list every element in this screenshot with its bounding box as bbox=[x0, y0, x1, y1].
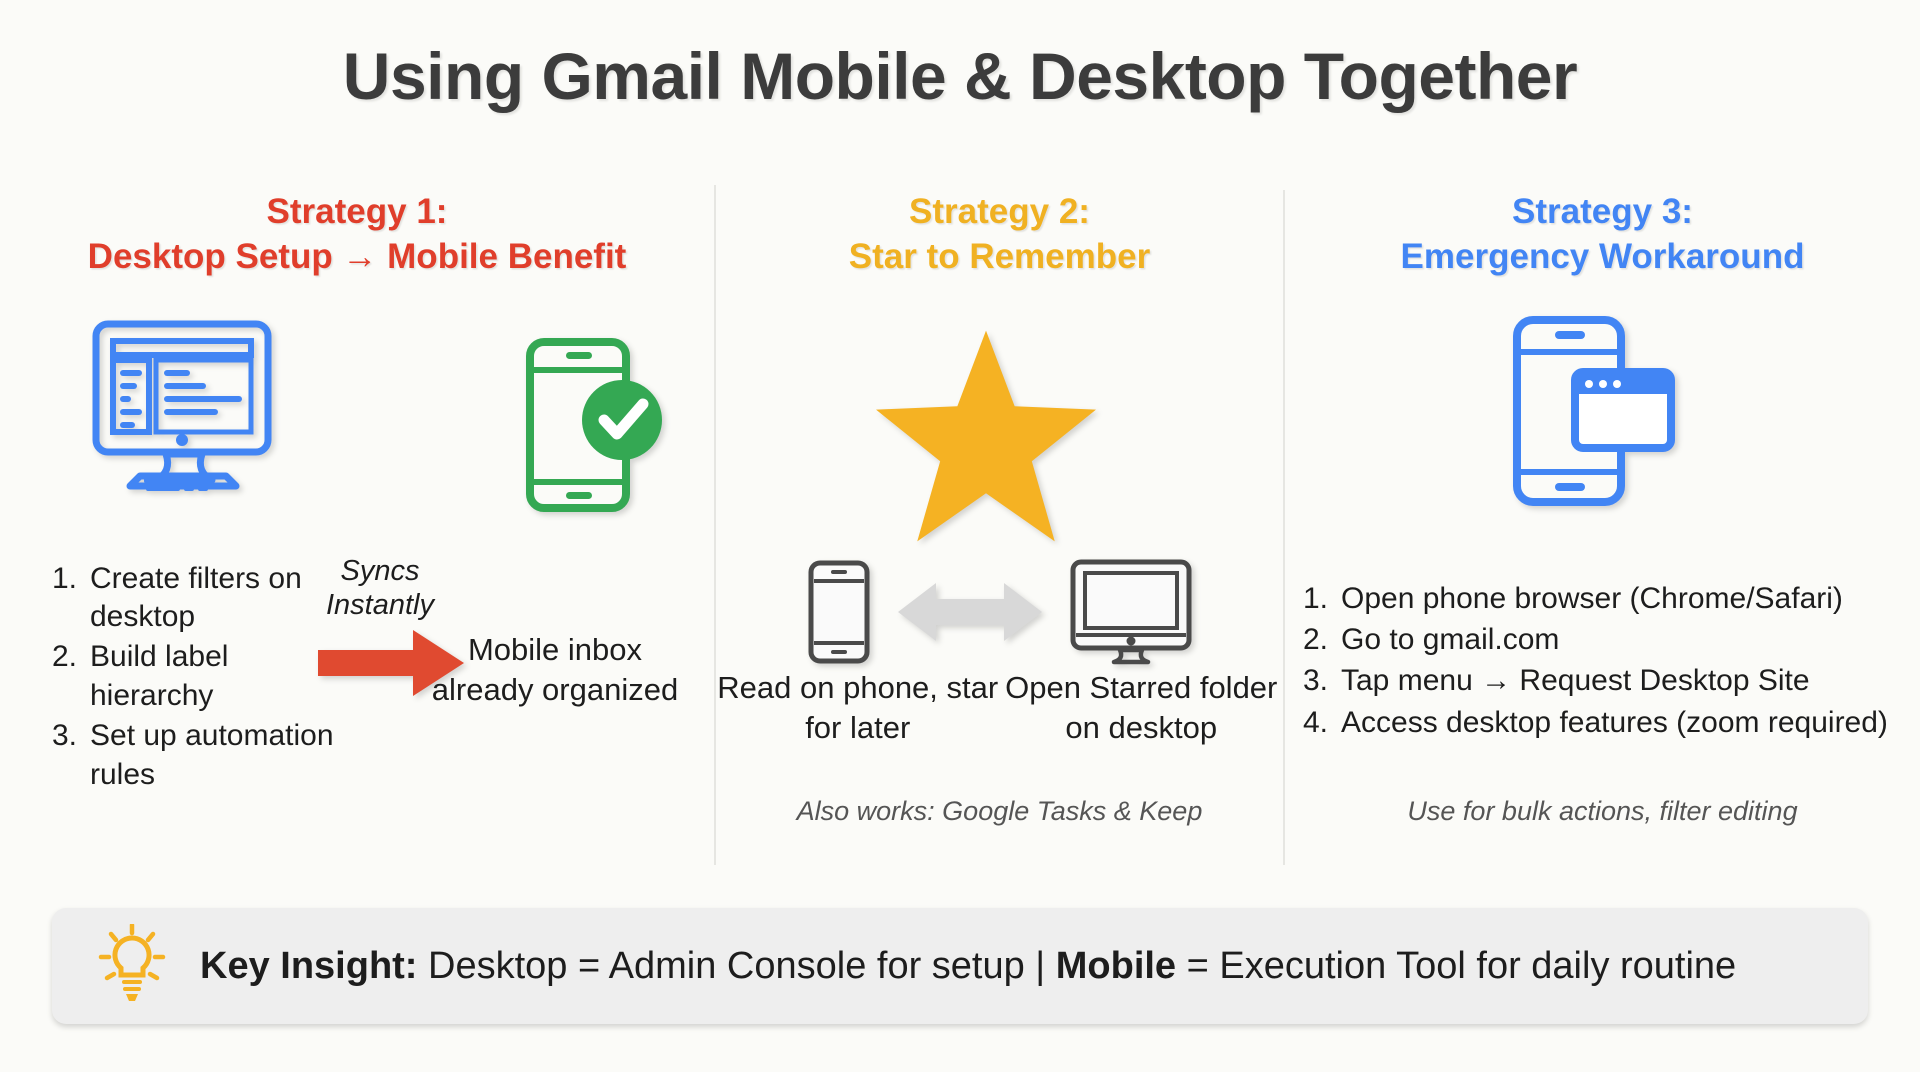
list-item: 3. Tap menu → Request Desktop Site bbox=[1303, 662, 1913, 700]
list-item: 3. Set up automation rules bbox=[52, 717, 342, 794]
desktop-monitor-icon bbox=[88, 318, 278, 503]
key-insight-part2: = Execution Tool for daily routine bbox=[1176, 945, 1736, 987]
strategy-3-heading-line2: Emergency Workaround bbox=[1285, 235, 1920, 280]
gold-star-icon bbox=[871, 326, 1101, 551]
list-item: 4. Access desktop features (zoom require… bbox=[1303, 704, 1913, 742]
phone-browser-window-icon bbox=[1503, 314, 1683, 519]
caption-desktop: Open Starred folder on desktop bbox=[1000, 668, 1284, 749]
strategy-3-step-list: 1. Open phone browser (Chrome/Safari) 2.… bbox=[1303, 580, 1913, 746]
strategy-2-heading: Strategy 2: Star to Remember bbox=[716, 190, 1283, 280]
step-text: Tap menu → Request Desktop Site bbox=[1341, 662, 1913, 700]
step-number: 4. bbox=[1303, 704, 1341, 742]
step-text: Set up automation rules bbox=[90, 717, 342, 794]
step-number: 1. bbox=[1303, 580, 1341, 618]
key-insight-banner: Key Insight: Desktop = Admin Console for… bbox=[52, 908, 1868, 1024]
strategy-1-heading-line2: Desktop Setup → Mobile Benefit bbox=[0, 235, 714, 280]
page-title: Using Gmail Mobile & Desktop Together bbox=[0, 38, 1920, 114]
step-number: 3. bbox=[52, 717, 90, 794]
strategy-2-heading-line1: Strategy 2: bbox=[909, 192, 1090, 231]
infographic-canvas: Using Gmail Mobile & Desktop Together St… bbox=[0, 0, 1920, 1072]
gray-phone-icon bbox=[806, 559, 872, 670]
sync-label: Syncs Instantly bbox=[300, 554, 460, 624]
strategy-2-body: Read on phone, star for later Open Starr… bbox=[716, 308, 1283, 868]
strategy-3-note: Use for bulk actions, filter editing bbox=[1285, 796, 1920, 827]
strategy-1-body: 1. Create filters on desktop 2. Build la… bbox=[0, 308, 714, 868]
key-insight-part1: Desktop = Admin Console for setup | bbox=[417, 945, 1055, 987]
strategy-2-heading-line2: Star to Remember bbox=[716, 235, 1283, 280]
strategy-3-heading-line1: Strategy 3: bbox=[1512, 192, 1693, 231]
strategy-2-captions: Read on phone, star for later Open Starr… bbox=[716, 668, 1283, 749]
list-item: 1. Create filters on desktop bbox=[52, 560, 342, 637]
step-text: Access desktop features (zoom required) bbox=[1341, 704, 1913, 742]
step-text: Go to gmail.com bbox=[1341, 621, 1913, 659]
lightbulb-icon bbox=[98, 924, 166, 1009]
step-text: Build label hierarchy bbox=[90, 638, 342, 715]
strategy-1-step-list: 1. Create filters on desktop 2. Build la… bbox=[52, 560, 342, 796]
key-insight-label: Key Insight: bbox=[200, 945, 417, 987]
strategy-1-heading: Strategy 1: Desktop Setup → Mobile Benef… bbox=[0, 190, 714, 280]
bidirectional-arrow-icon bbox=[896, 577, 1044, 652]
list-item: 1. Open phone browser (Chrome/Safari) bbox=[1303, 580, 1913, 618]
step-number: 2. bbox=[52, 638, 90, 715]
strategy-2-note: Also works: Google Tasks & Keep bbox=[716, 796, 1283, 827]
caption-phone: Read on phone, star for later bbox=[716, 668, 1000, 749]
step-number: 1. bbox=[52, 560, 90, 637]
step-number: 2. bbox=[1303, 621, 1341, 659]
green-phone-check-icon bbox=[508, 336, 668, 521]
strategy-1-result-caption: Mobile inbox already organized bbox=[430, 630, 680, 711]
strategy-1-heading-line1: Strategy 1: bbox=[267, 192, 448, 231]
gray-monitor-icon bbox=[1068, 558, 1194, 671]
strategy-3-column: Strategy 3: Emergency Workaround bbox=[1285, 190, 1920, 868]
strategy-1-column: Strategy 1: Desktop Setup → Mobile Benef… bbox=[0, 190, 714, 868]
strategy-3-heading: Strategy 3: Emergency Workaround bbox=[1285, 190, 1920, 280]
device-sync-row bbox=[716, 558, 1283, 671]
list-item: 2. Go to gmail.com bbox=[1303, 621, 1913, 659]
step-number: 3. bbox=[1303, 662, 1341, 700]
strategy-2-column: Strategy 2: Star to Remember bbox=[716, 190, 1283, 868]
key-insight-mobile-label: Mobile bbox=[1056, 945, 1176, 987]
key-insight-text: Key Insight: Desktop = Admin Console for… bbox=[200, 945, 1736, 988]
list-item: 2. Build label hierarchy bbox=[52, 638, 342, 715]
step-text: Open phone browser (Chrome/Safari) bbox=[1341, 580, 1913, 618]
strategy-3-body: 1. Open phone browser (Chrome/Safari) 2.… bbox=[1285, 308, 1920, 868]
